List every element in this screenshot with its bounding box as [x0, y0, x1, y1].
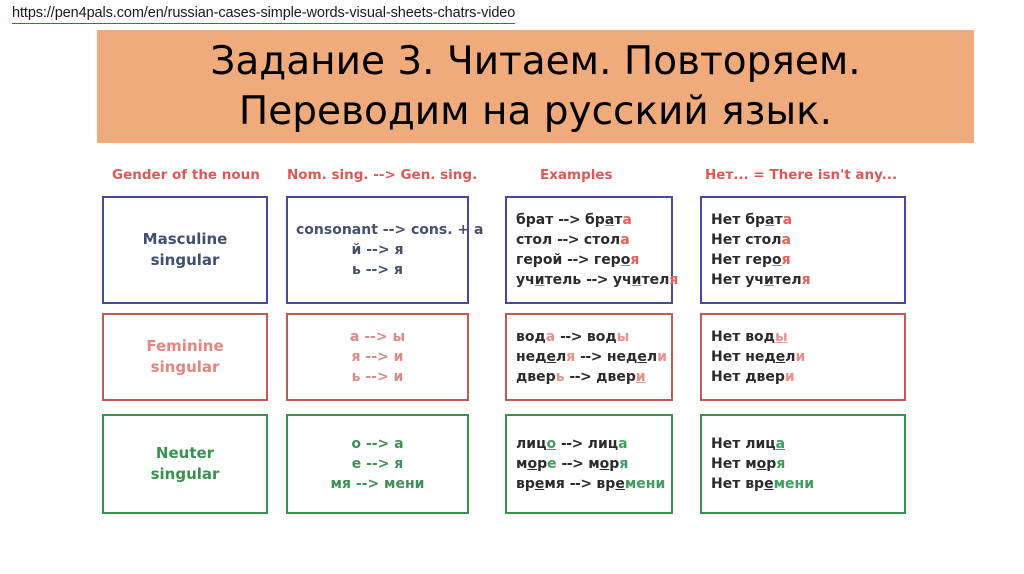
example-line: герой --> героя — [516, 250, 662, 270]
column-header-gender: Gender of the noun — [112, 167, 260, 183]
example-line: брат --> брата — [516, 210, 662, 230]
rule-line: я --> и — [296, 347, 459, 367]
gender-cell-masculine: Masculine singular — [102, 196, 268, 304]
gender-label-line1: Masculine — [104, 229, 266, 250]
rule-line: о --> а — [296, 434, 459, 454]
example-line: неделя --> недели — [516, 347, 662, 367]
gender-label-line1: Neuter — [104, 443, 266, 464]
example-line: дверь --> двери — [516, 367, 662, 387]
examples-list-feminine: вода --> воды неделя --> недели дверь --… — [507, 327, 671, 387]
examples-list-masculine: брат --> брата стол --> стола герой --> … — [507, 210, 671, 290]
negatives-list-neuter: Нет лица Нет моря Нет времени — [702, 434, 904, 494]
page-title: Задание 3. Читаем. Повторяем. Переводим … — [97, 37, 974, 137]
negatives-list-feminine: Нет воды Нет недели Нет двери — [702, 327, 904, 387]
gender-label-masculine: Masculine singular — [104, 229, 266, 271]
gender-label-feminine: Feminine singular — [104, 336, 266, 378]
rule-line: consonant --> cons. + а — [296, 220, 459, 240]
examples-cell-feminine: вода --> воды неделя --> недели дверь --… — [505, 313, 673, 401]
negatives-cell-masculine: Нет брата Нет стола Нет героя Нет учител… — [700, 196, 906, 304]
example-line: лицо --> лица — [516, 434, 662, 454]
gender-cell-feminine: Feminine singular — [102, 313, 268, 401]
negative-line: Нет лица — [711, 434, 895, 454]
title-banner: Задание 3. Читаем. Повторяем. Переводим … — [97, 30, 974, 143]
example-line: море --> моря — [516, 454, 662, 474]
negative-line: Нет времени — [711, 474, 895, 494]
negative-line: Нет учителя — [711, 270, 895, 290]
gender-label-neuter: Neuter singular — [104, 443, 266, 485]
example-line: время --> времени — [516, 474, 662, 494]
gender-label-line1: Feminine — [104, 336, 266, 357]
rule-line: ь --> и — [296, 367, 459, 387]
column-header-examples: Examples — [540, 167, 613, 183]
rule-line: мя --> мени — [296, 474, 459, 494]
negative-line: Нет воды — [711, 327, 895, 347]
negative-line: Нет недели — [711, 347, 895, 367]
rules-list-masculine: consonant --> cons. + а й --> я ь --> я — [288, 220, 467, 280]
rules-list-neuter: о --> а е --> я мя --> мени — [288, 434, 467, 494]
page-url[interactable]: https://pen4pals.com/en/russian-cases-si… — [12, 5, 515, 24]
rule-line: а --> ы — [296, 327, 459, 347]
rules-cell-feminine: а --> ы я --> и ь --> и — [286, 313, 469, 401]
examples-cell-masculine: брат --> брата стол --> стола герой --> … — [505, 196, 673, 304]
gender-label-line2: singular — [104, 464, 266, 485]
gender-cell-neuter: Neuter singular — [102, 414, 268, 514]
rules-list-feminine: а --> ы я --> и ь --> и — [288, 327, 467, 387]
rule-line: е --> я — [296, 454, 459, 474]
negatives-cell-feminine: Нет воды Нет недели Нет двери — [700, 313, 906, 401]
column-header-nom-gen: Nom. sing. --> Gen. sing. — [287, 167, 477, 183]
negative-line: Нет двери — [711, 367, 895, 387]
example-line: стол --> стола — [516, 230, 662, 250]
gender-label-line2: singular — [104, 357, 266, 378]
rules-cell-masculine: consonant --> cons. + а й --> я ь --> я — [286, 196, 469, 304]
rules-cell-neuter: о --> а е --> я мя --> мени — [286, 414, 469, 514]
negatives-list-masculine: Нет брата Нет стола Нет героя Нет учител… — [702, 210, 904, 290]
column-header-negative: Нет... = There isn't any... — [705, 167, 897, 183]
table-column-headers: Gender of the noun Nom. sing. --> Gen. s… — [100, 165, 912, 191]
grammar-table: Gender of the noun Nom. sing. --> Gen. s… — [100, 165, 912, 517]
example-line: учитель --> учителя — [516, 270, 662, 290]
gender-label-line2: singular — [104, 250, 266, 271]
negative-line: Нет брата — [711, 210, 895, 230]
negative-line: Нет моря — [711, 454, 895, 474]
negative-line: Нет стола — [711, 230, 895, 250]
example-line: вода --> воды — [516, 327, 662, 347]
negatives-cell-neuter: Нет лица Нет моря Нет времени — [700, 414, 906, 514]
negative-line: Нет героя — [711, 250, 895, 270]
rule-line: ь --> я — [296, 260, 459, 280]
examples-cell-neuter: лицо --> лица море --> моря время --> вр… — [505, 414, 673, 514]
examples-list-neuter: лицо --> лица море --> моря время --> вр… — [507, 434, 671, 494]
rule-line: й --> я — [296, 240, 459, 260]
